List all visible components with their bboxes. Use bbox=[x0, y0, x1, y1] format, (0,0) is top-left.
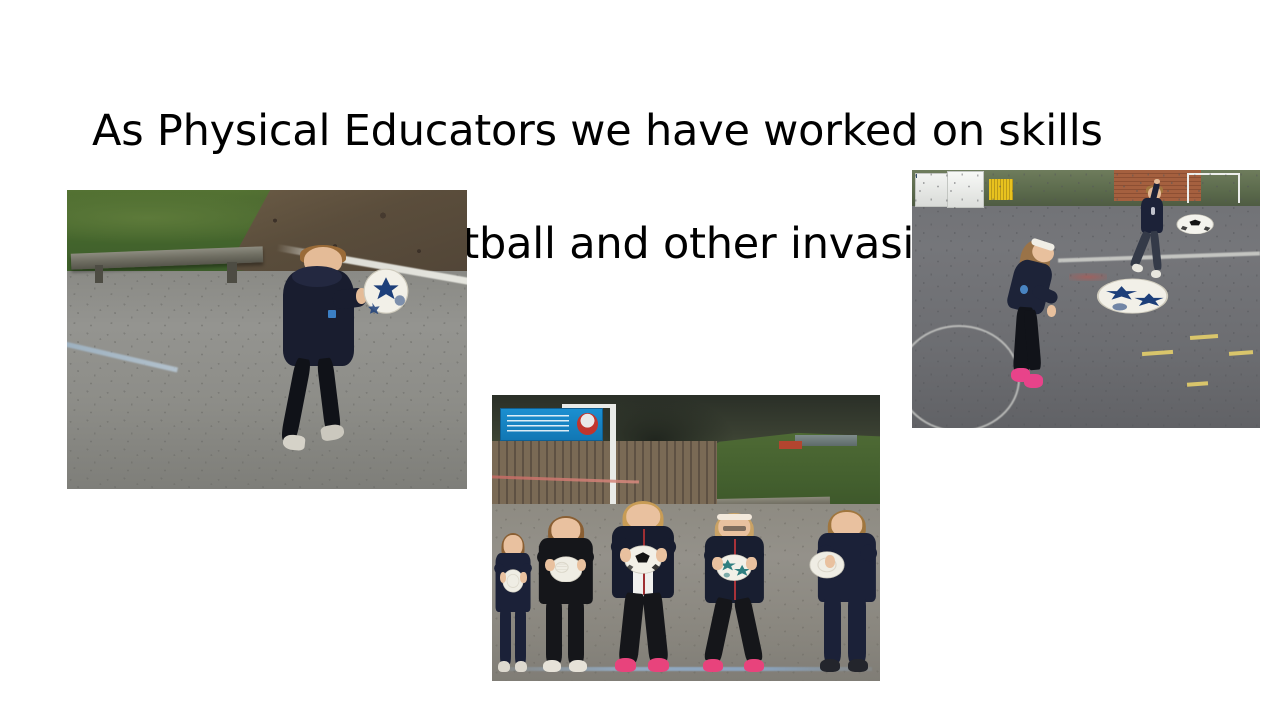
leg-left bbox=[281, 357, 313, 442]
hand-left bbox=[825, 555, 835, 568]
hand bbox=[1047, 305, 1056, 317]
banner-logo bbox=[577, 413, 597, 435]
trouser-right bbox=[734, 597, 764, 663]
person-girl bbox=[1006, 240, 1072, 390]
trouser-right bbox=[848, 597, 865, 662]
football-star-ball bbox=[1096, 278, 1169, 314]
shoe-right bbox=[1151, 270, 1162, 278]
bench-leg bbox=[227, 262, 237, 283]
shoe-right bbox=[515, 661, 527, 672]
shoe-right bbox=[848, 659, 868, 672]
shoe-right-pink bbox=[744, 659, 764, 672]
trouser-left bbox=[619, 592, 645, 662]
person-child-4 bbox=[705, 515, 763, 675]
trouser-left bbox=[546, 600, 562, 663]
shoe-left bbox=[498, 661, 510, 672]
shoe-left-pink bbox=[703, 659, 723, 672]
hand-left bbox=[712, 557, 722, 570]
person-child-5 bbox=[818, 512, 876, 675]
shoe-left bbox=[543, 660, 561, 673]
sleeve-badge bbox=[328, 310, 337, 318]
football-mono-ball bbox=[1176, 214, 1214, 235]
bench-leg bbox=[95, 265, 103, 283]
hood bbox=[292, 266, 342, 287]
photo-girl-receiving-pass bbox=[912, 170, 1260, 428]
hand-left bbox=[620, 548, 631, 562]
shoe-right bbox=[569, 660, 587, 673]
sleeve-badge bbox=[1020, 285, 1027, 294]
slide-canvas: As Physical Educators we have worked on … bbox=[0, 0, 1280, 720]
trouser-left bbox=[704, 597, 734, 663]
person-boy bbox=[275, 247, 371, 456]
shoe-left bbox=[282, 434, 305, 451]
trouser-left bbox=[824, 597, 841, 662]
trouser-right bbox=[642, 592, 668, 662]
shoe-right-pink bbox=[1024, 374, 1043, 387]
red-object bbox=[779, 441, 802, 450]
hand-right bbox=[656, 548, 667, 562]
shoe-left-pink bbox=[615, 658, 636, 672]
hand-right bbox=[746, 557, 756, 570]
hand-right bbox=[520, 572, 526, 583]
wooden-fence bbox=[492, 441, 717, 504]
person-child-2 bbox=[539, 518, 593, 675]
hand-left bbox=[545, 559, 555, 572]
person-child-1 bbox=[496, 535, 531, 675]
leg-right bbox=[317, 357, 342, 434]
photo-boy-with-ball bbox=[67, 190, 467, 489]
title-line-1: As Physical Educators we have worked on … bbox=[92, 103, 1162, 160]
shed-roof bbox=[795, 435, 857, 446]
goal-post bbox=[610, 404, 615, 504]
football-star-ball bbox=[363, 268, 409, 314]
shoe-right bbox=[320, 423, 345, 441]
trouser-right bbox=[515, 608, 525, 664]
glasses bbox=[723, 526, 746, 531]
photo-five-children-with-balls bbox=[492, 395, 880, 681]
person-boy-background bbox=[1135, 185, 1173, 283]
torso-tracksuit bbox=[1141, 198, 1163, 233]
trouser-left bbox=[500, 608, 510, 664]
leg-right bbox=[1150, 230, 1162, 270]
shoe-right-pink bbox=[648, 658, 669, 672]
shoe-left bbox=[820, 659, 840, 672]
person-child-3 bbox=[612, 504, 674, 676]
chest-badge bbox=[1151, 207, 1155, 215]
trouser-right bbox=[568, 600, 584, 663]
headband bbox=[717, 514, 752, 520]
banner-text-lines bbox=[507, 415, 570, 435]
blue-banner-sign bbox=[500, 408, 603, 441]
